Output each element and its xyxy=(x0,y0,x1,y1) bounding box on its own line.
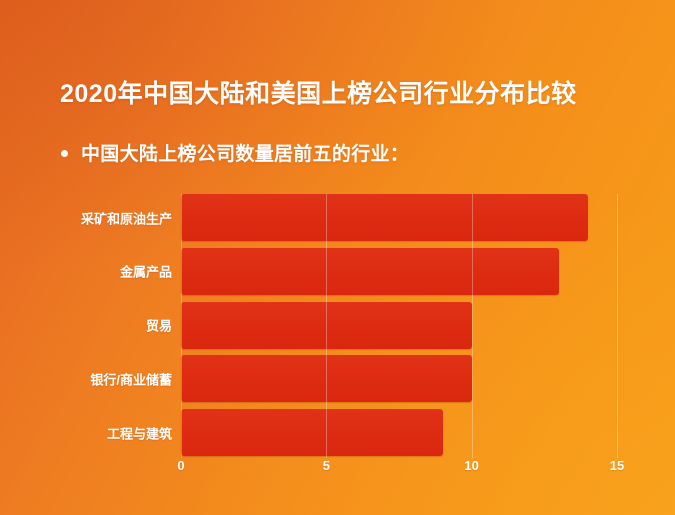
bar-chart: 采矿和原油生产金属产品贸易银行/商业储蓄工程与建筑 051015 xyxy=(0,0,675,515)
x-tick-label: 10 xyxy=(464,458,478,473)
category-label: 工程与建筑 xyxy=(107,423,172,442)
plot-area: 采矿和原油生产金属产品贸易银行/商业储蓄工程与建筑 xyxy=(181,194,617,456)
slide-canvas: 2020年中国大陆和美国上榜公司行业分布比较 中国大陆上榜公司数量居前五的行业：… xyxy=(0,0,675,515)
bar[interactable] xyxy=(181,302,472,349)
x-axis: 051015 xyxy=(181,458,617,482)
bar-row: 银行/商业储蓄 xyxy=(181,355,617,402)
bar-row: 金属产品 xyxy=(181,248,617,295)
bar-row: 贸易 xyxy=(181,302,617,349)
category-label: 贸易 xyxy=(146,316,172,335)
gridline-15 xyxy=(617,194,618,458)
category-label: 采矿和原油生产 xyxy=(81,208,172,227)
category-label: 金属产品 xyxy=(120,262,172,281)
bar[interactable] xyxy=(181,248,559,295)
bar-series: 采矿和原油生产金属产品贸易银行/商业储蓄工程与建筑 xyxy=(181,194,617,456)
x-tick-label: 0 xyxy=(177,458,184,473)
category-label: 银行/商业储蓄 xyxy=(90,369,172,388)
bar[interactable] xyxy=(181,409,443,456)
x-tick-label: 5 xyxy=(323,458,330,473)
bar-row: 采矿和原油生产 xyxy=(181,194,617,241)
bar-row: 工程与建筑 xyxy=(181,409,617,456)
bar[interactable] xyxy=(181,194,588,241)
x-tick-label: 15 xyxy=(610,458,624,473)
bar[interactable] xyxy=(181,355,472,402)
